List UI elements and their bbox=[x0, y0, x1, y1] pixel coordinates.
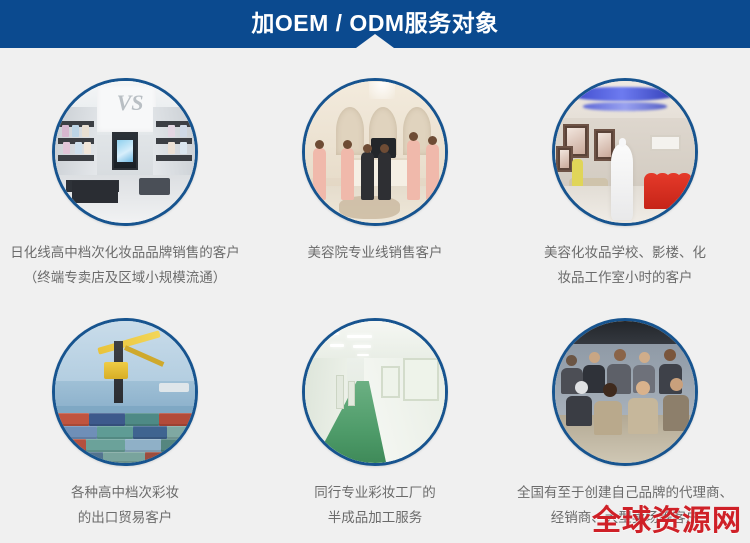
audience-crowd-illustration bbox=[555, 321, 695, 463]
card-retail-store-caption: 日化线高中档次化妆品品牌销售的客户 （终端专卖店及区域小规模流通） bbox=[5, 240, 245, 290]
card-export-trade[interactable]: 各种高中档次彩妆 的出口贸易客户 bbox=[0, 294, 250, 534]
container-port-illustration bbox=[55, 321, 195, 463]
card-export-trade-caption: 各种高中档次彩妆 的出口贸易客户 bbox=[5, 480, 245, 530]
card-oem-factory[interactable]: 同行专业彩妆工厂的 半成品加工服务 bbox=[250, 294, 500, 534]
card-retail-store-photo: VS bbox=[52, 78, 198, 226]
cards-row-top: VS bbox=[0, 54, 750, 294]
retail-store-illustration: VS bbox=[55, 81, 195, 223]
site-watermark: 全球资源网 bbox=[592, 497, 742, 539]
promo-banner: 加OEM / ODM服务对象 VS bbox=[0, 0, 750, 543]
section-header: 加OEM / ODM服务对象 bbox=[0, 0, 750, 48]
card-agents-dealers-photo bbox=[552, 318, 698, 466]
cards-area: VS bbox=[0, 48, 750, 543]
bridal-studio-illustration bbox=[555, 81, 695, 223]
beauty-salon-illustration bbox=[305, 81, 445, 223]
card-retail-store[interactable]: VS bbox=[0, 54, 250, 294]
card-beauty-salon-photo bbox=[302, 78, 448, 226]
card-oem-factory-caption: 同行专业彩妆工厂的 半成品加工服务 bbox=[255, 480, 495, 530]
card-export-trade-photo bbox=[52, 318, 198, 466]
card-beauty-salon[interactable]: 美容院专业线销售客户 bbox=[250, 54, 500, 294]
card-oem-factory-photo bbox=[302, 318, 448, 466]
card-beauty-school-photo bbox=[552, 78, 698, 226]
header-notch-triangle bbox=[356, 34, 394, 48]
card-beauty-school[interactable]: 美容化妆品学校、影楼、化 妆品工作室小时的客户 bbox=[500, 54, 750, 294]
card-beauty-school-caption: 美容化妆品学校、影楼、化 妆品工作室小时的客户 bbox=[505, 240, 745, 290]
factory-corridor-illustration bbox=[305, 321, 445, 463]
store-logo-icon: VS bbox=[117, 90, 144, 116]
card-beauty-salon-caption: 美容院专业线销售客户 bbox=[255, 240, 495, 265]
